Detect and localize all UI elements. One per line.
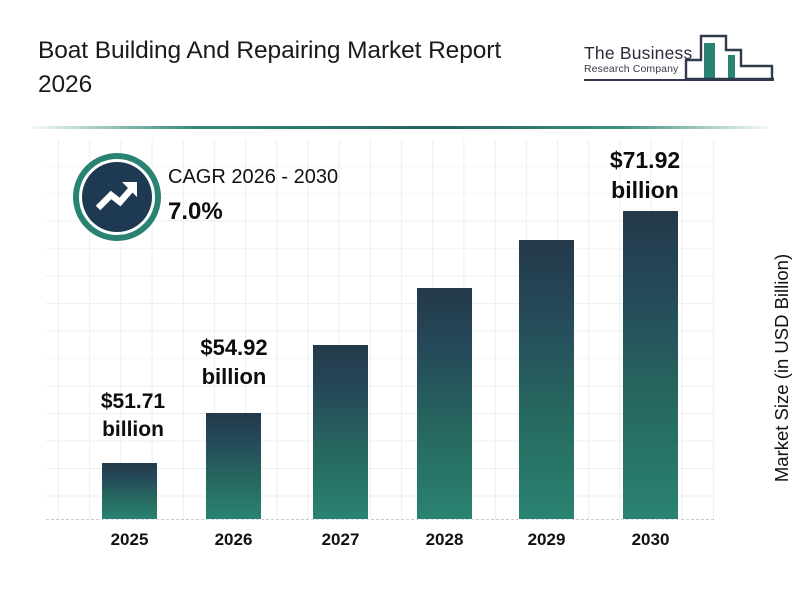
bar-2028[interactable] bbox=[417, 288, 472, 519]
value-label-amount: $51.71 bbox=[78, 388, 188, 416]
page-title: Boat Building And Repairing Market Repor… bbox=[38, 34, 558, 102]
value-label-amount: $54.92 bbox=[179, 333, 289, 362]
value-label-unit: billion bbox=[590, 175, 700, 205]
x-axis-tick-2027: 2027 bbox=[313, 530, 368, 550]
value-label-unit: billion bbox=[78, 416, 188, 444]
cagr-badge-icon bbox=[72, 152, 162, 242]
x-axis-tick-2025: 2025 bbox=[102, 530, 157, 550]
bar-2027[interactable] bbox=[313, 345, 368, 519]
cagr-period-label: CAGR 2026 - 2030 bbox=[168, 166, 338, 189]
bar-2030[interactable] bbox=[623, 211, 678, 519]
header-divider bbox=[32, 126, 768, 129]
bar-2029[interactable] bbox=[519, 240, 574, 519]
value-label-unit: billion bbox=[179, 362, 289, 391]
bar-chart-logo-mark-icon bbox=[684, 30, 776, 82]
chart-page: Boat Building And Repairing Market Repor… bbox=[0, 0, 800, 600]
y-axis-title: Market Size (in USD Billion) bbox=[770, 218, 794, 518]
value-label-2025: $51.71billion bbox=[78, 388, 188, 444]
x-axis-tick-2029: 2029 bbox=[519, 530, 574, 550]
x-axis: 202520262027202820292030 bbox=[46, 530, 714, 560]
company-logo: The Business Research Company bbox=[576, 30, 776, 98]
value-label-amount: $71.92 bbox=[590, 145, 700, 175]
x-axis-tick-2028: 2028 bbox=[417, 530, 472, 550]
value-label-2030: $71.92billion bbox=[590, 145, 700, 205]
axis-baseline bbox=[46, 519, 714, 520]
bar-2025[interactable] bbox=[102, 463, 157, 519]
cagr-value: 7.0% bbox=[168, 198, 223, 226]
bar-2026[interactable] bbox=[206, 413, 261, 519]
page-header: Boat Building And Repairing Market Repor… bbox=[0, 0, 800, 130]
cagr-callout: CAGR 2026 - 2030 7.0% bbox=[72, 152, 402, 248]
value-label-2026: $54.92billion bbox=[179, 333, 289, 391]
y-axis-title-text: Market Size (in USD Billion) bbox=[771, 254, 793, 482]
x-axis-tick-2030: 2030 bbox=[623, 530, 678, 550]
x-axis-tick-2026: 2026 bbox=[206, 530, 261, 550]
